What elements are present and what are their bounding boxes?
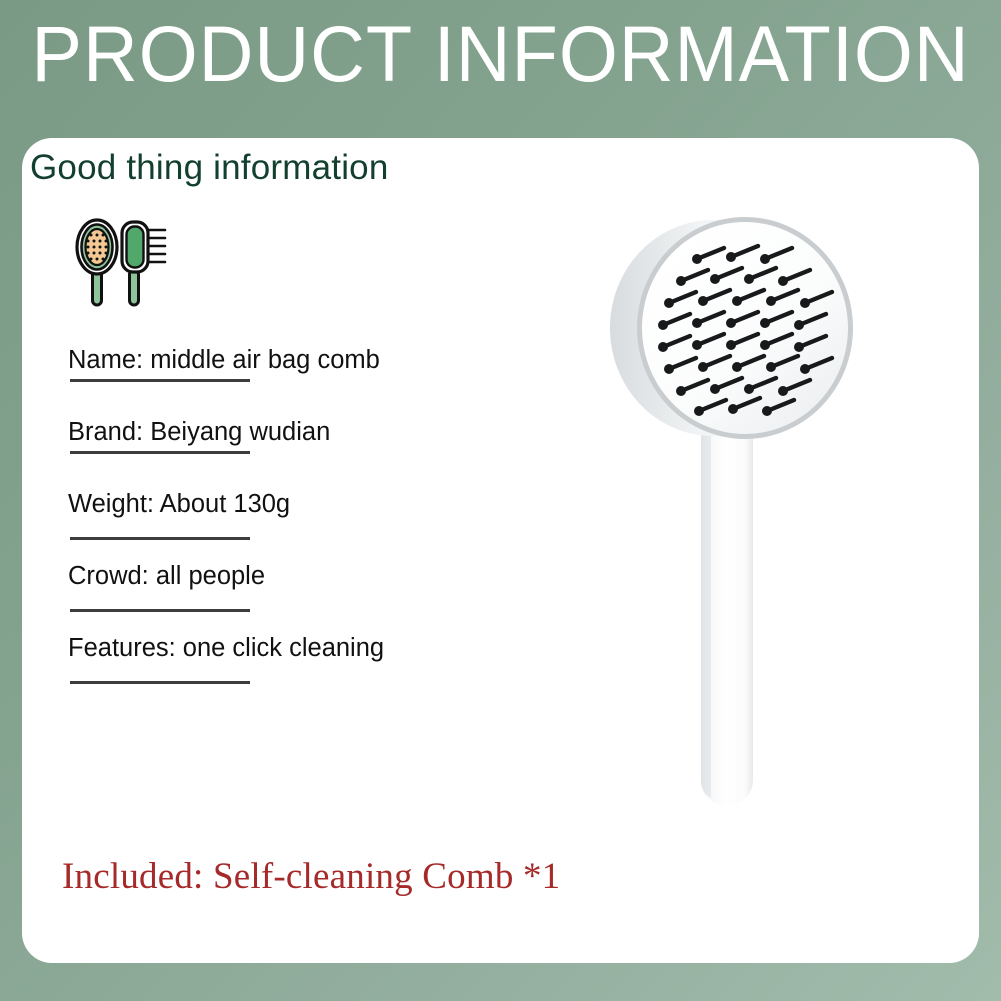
page-title: PRODUCT INFORMATION [20, 8, 981, 100]
spec-list: Name: middle air bag comb Brand: Beiyang… [68, 345, 628, 705]
spec-divider [70, 379, 250, 382]
spec-label: Weight: About 130g [68, 489, 290, 519]
spec-label: Brand: Beiyang wudian [68, 417, 330, 447]
product-information-page: PRODUCT INFORMATION Good thing informati… [0, 0, 1001, 1001]
spec-row: Name: middle air bag comb [68, 345, 628, 417]
spec-divider [70, 609, 250, 612]
spec-divider [70, 451, 250, 454]
spec-label: Crowd: all people [68, 561, 265, 591]
section-heading: Good thing information [30, 148, 389, 188]
spec-row: Brand: Beiyang wudian [68, 417, 628, 489]
spec-label: Name: middle air bag comb [68, 345, 380, 375]
hair-brush-and-comb-icon [68, 210, 172, 310]
spec-divider [70, 537, 250, 540]
spec-divider [70, 681, 250, 684]
included-items-text: Included: Self-cleaning Comb *1 [62, 855, 560, 898]
spec-row: Features: one click cleaning [68, 633, 628, 705]
spec-label: Features: one click cleaning [68, 633, 384, 663]
spec-row: Weight: About 130g [68, 489, 628, 561]
spec-row: Crowd: all people [68, 561, 628, 633]
product-photo-self-cleaning-comb [585, 215, 885, 835]
